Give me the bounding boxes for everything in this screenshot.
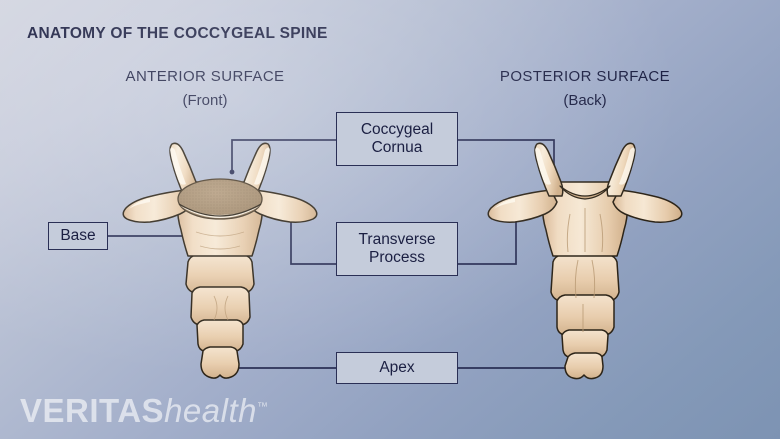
label-transverse-line2: Process [369,249,425,267]
posterior-subheading: (Back) [563,92,606,109]
posterior-coccyx [488,143,682,378]
page-title: ANATOMY OF THE COCCYGEAL SPINE [27,25,328,43]
veritas-health-watermark: VERITAShealth™ [20,392,269,430]
illustration-canvas: ANATOMY OF THE COCCYGEAL SPINE ANTERIOR … [0,0,780,439]
watermark-word: health [164,392,257,429]
posterior-heading: POSTERIOR SURFACE [500,68,670,85]
anterior-heading: ANTERIOR SURFACE [126,68,285,85]
posterior-segment-3 [557,295,614,335]
label-box-base[interactable]: Base [48,222,108,250]
label-box-coccygeal-cornua[interactable]: Coccygeal Cornua [336,112,458,166]
label-base-text: Base [60,227,95,245]
leader-transverse-anterior [291,220,336,264]
posterior-apex-segment [565,353,603,379]
label-cornua-line2: Cornua [372,139,423,157]
label-apex-text: Apex [379,359,414,377]
label-box-transverse-process[interactable]: Transverse Process [336,222,458,276]
label-cornua-line1: Coccygeal [361,121,433,139]
watermark-trademark: ™ [257,401,269,413]
label-transverse-line1: Transverse [359,231,436,249]
leader-cornua-anterior [232,140,336,172]
watermark-brand: VERITAS [20,392,164,429]
label-box-apex[interactable]: Apex [336,352,458,384]
anterior-subheading: (Front) [183,92,228,109]
anterior-coccyx [123,143,317,378]
posterior-segment-2 [551,255,619,301]
leader-transverse-posterior [458,220,516,264]
coccyx-apex-segment [201,347,239,378]
